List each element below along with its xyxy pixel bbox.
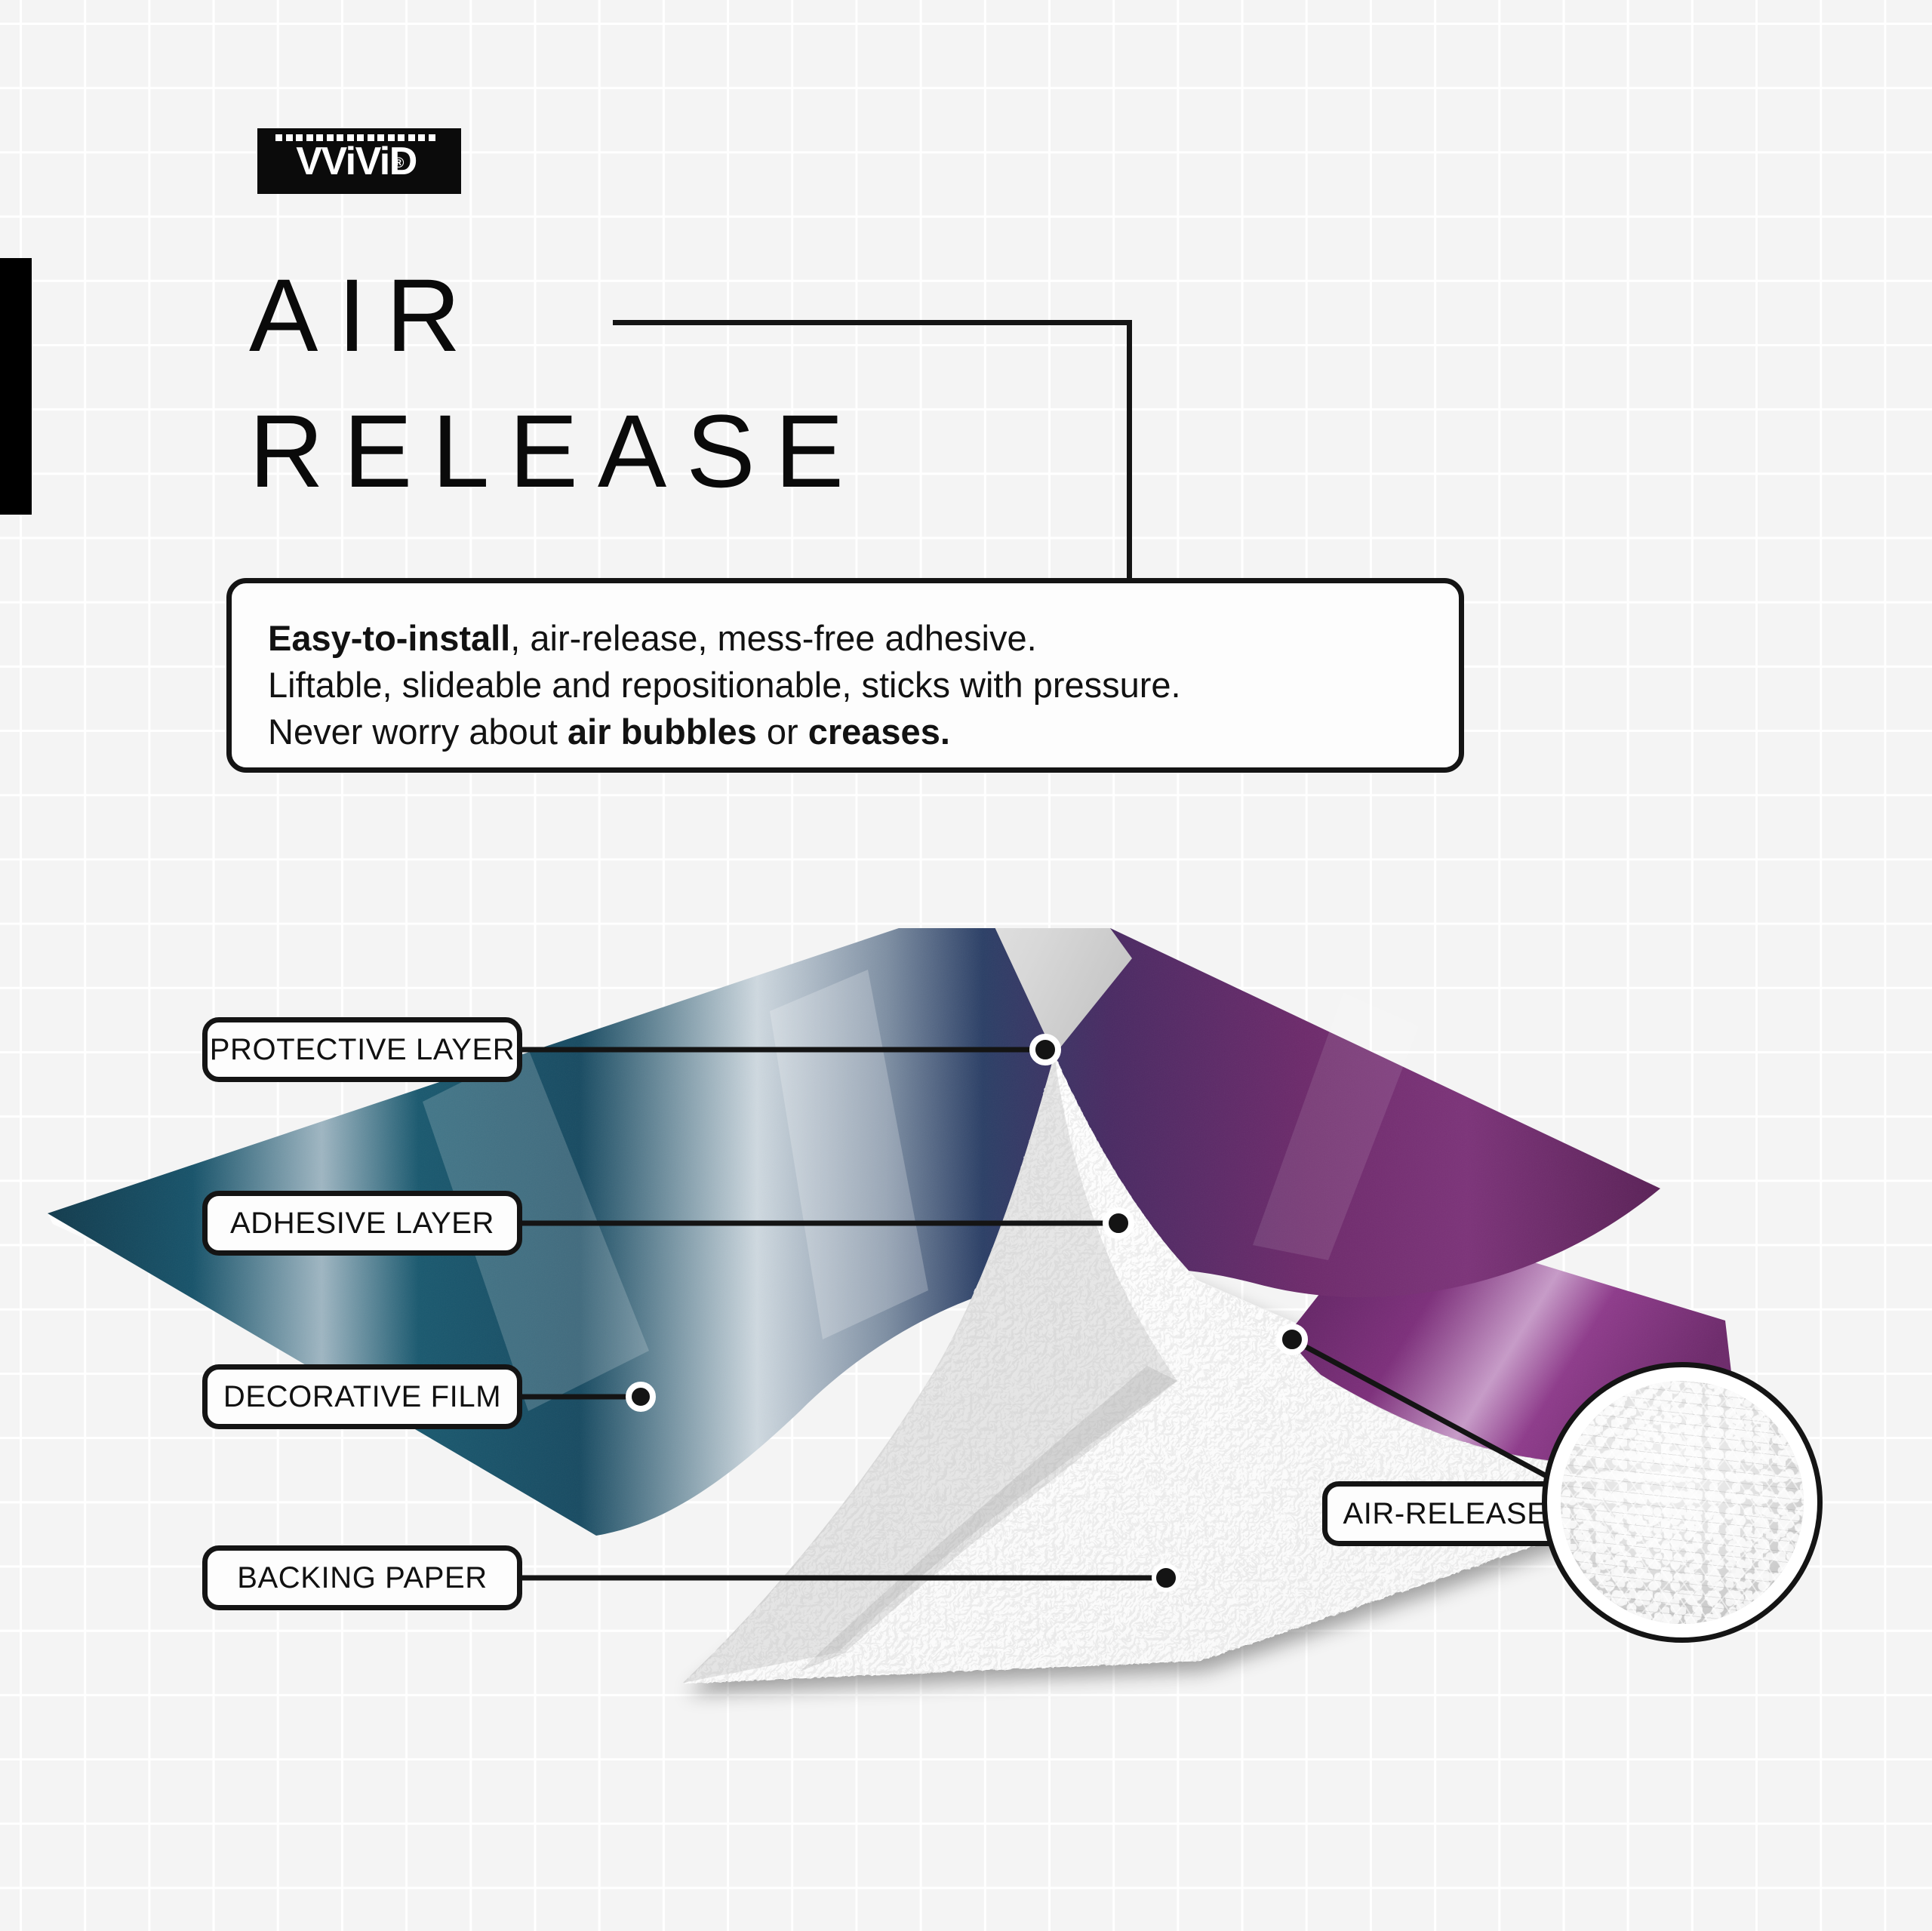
description-line-3-pre: Never worry about: [268, 712, 568, 752]
callout-decorative-film-label: DECORATIVE FILM: [223, 1380, 501, 1414]
callout-decorative-film[interactable]: DECORATIVE FILM: [202, 1364, 522, 1429]
headline-line-air: AIR: [249, 264, 480, 367]
leader-dot-backing: [1154, 1566, 1178, 1590]
description-line-3: Never worry about air bubbles or creases…: [268, 709, 1459, 755]
callout-backing-paper-label: BACKING PAPER: [237, 1561, 488, 1595]
logo-dash: [429, 134, 435, 141]
logo-dash: [286, 134, 293, 141]
left-accent-bar: [0, 258, 32, 515]
callout-protective-layer[interactable]: PROTECTIVE LAYER: [202, 1017, 522, 1082]
callout-backing-paper[interactable]: BACKING PAPER: [202, 1545, 522, 1610]
leader-dot-protective: [1032, 1037, 1058, 1062]
infographic-page: VViViD ® AIR RELEASE Easy-to-install, ai…: [0, 0, 1932, 1931]
headline-line-release: RELEASE: [249, 400, 863, 503]
description-line-1-rest: , air-release, mess-free adhesive.: [510, 618, 1036, 658]
registered-trademark-icon: ®: [393, 156, 403, 171]
leader-dot-air-release: [1279, 1327, 1305, 1352]
headline-connector-horizontal: [613, 320, 1132, 325]
callout-protective-layer-label: PROTECTIVE LAYER: [210, 1033, 515, 1067]
callout-air-release-label: AIR-RELEASE: [1343, 1497, 1547, 1531]
leader-dot-decorative: [629, 1385, 653, 1409]
description-callout-box: Easy-to-install, air-release, mess-free …: [226, 578, 1464, 773]
air-release-texture-detail: [1561, 1381, 1804, 1624]
description-bold-easy-to-install: Easy-to-install: [268, 618, 510, 658]
description-bold-creases: creases.: [808, 712, 950, 752]
callout-adhesive-layer[interactable]: ADHESIVE LAYER: [202, 1191, 522, 1256]
description-bold-air-bubbles: air bubbles: [568, 712, 757, 752]
logo-dash: [275, 134, 282, 141]
air-release-magnifier: [1542, 1362, 1823, 1643]
leader-dot-adhesive: [1106, 1210, 1131, 1236]
vvivid-logo: VViViD ®: [257, 128, 461, 194]
logo-wordmark: VViViD ®: [296, 143, 417, 180]
description-line-1: Easy-to-install, air-release, mess-free …: [268, 615, 1459, 662]
callout-air-release[interactable]: AIR-RELEASE: [1322, 1481, 1568, 1546]
callout-adhesive-layer-label: ADHESIVE LAYER: [230, 1207, 494, 1241]
headline-connector-vertical: [1127, 320, 1132, 586]
description-line-3-mid: or: [757, 712, 808, 752]
logo-dash: [418, 134, 425, 141]
description-line-2: Liftable, slideable and repositionable, …: [268, 662, 1459, 709]
